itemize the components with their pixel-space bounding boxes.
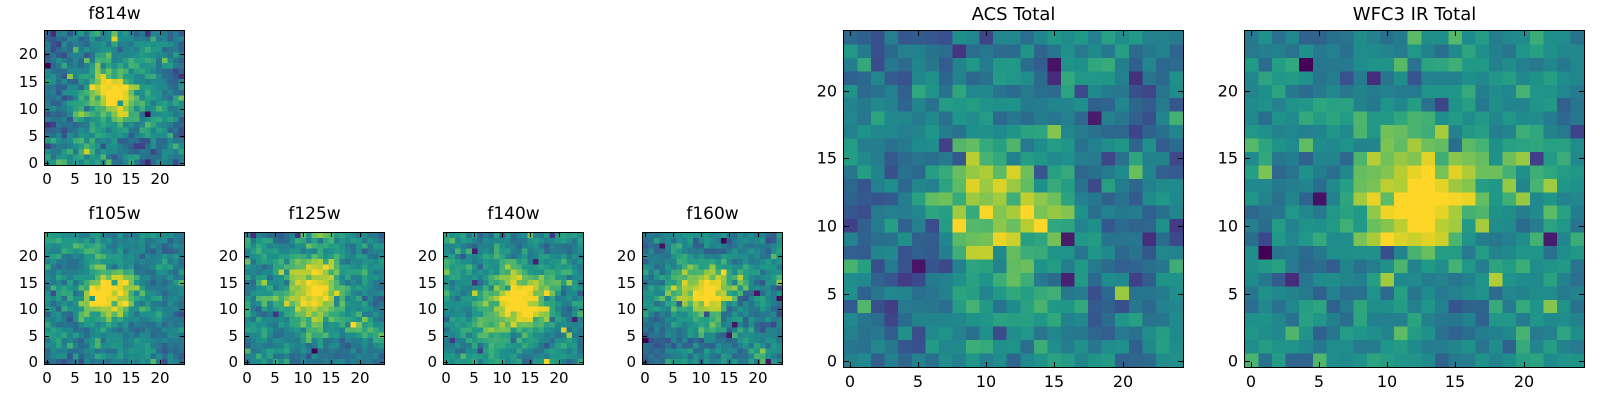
xtick-top-f140w-3	[530, 232, 531, 237]
yticklabel-wfc3_ir_total-2: 10	[1200, 217, 1238, 236]
xticklabel-f125w-2: 10	[293, 369, 312, 387]
panel-title-f160w: f160w	[642, 204, 783, 224]
yticklabel-f814w-3: 15	[0, 73, 38, 91]
heatmap-f125w	[245, 233, 384, 364]
ytick-right-f160w-0	[778, 362, 783, 363]
yticklabel-f105w-2: 10	[0, 300, 38, 318]
xtick-top-f105w-1	[75, 232, 76, 237]
xticklabel-f125w-1: 5	[270, 369, 280, 387]
xtick-f814w-0	[47, 161, 48, 166]
xtick-top-acs_total-3	[1054, 30, 1055, 36]
xtick-f140w-0	[446, 360, 447, 365]
ytick-right-f140w-0	[579, 362, 584, 363]
yticklabel-f140w-2: 10	[399, 300, 437, 318]
axes-f105w	[44, 232, 185, 365]
xtick-top-wfc3_ir_total-0	[1251, 30, 1252, 36]
ytick-right-f140w-4	[579, 256, 584, 257]
yticklabel-f814w-4: 20	[0, 45, 38, 63]
xticklabel-f140w-3: 15	[520, 369, 539, 387]
xticklabel-f160w-0: 0	[640, 369, 650, 387]
xtick-top-f160w-1	[673, 232, 674, 237]
xtick-f140w-2	[502, 360, 503, 365]
xtick-f160w-0	[645, 360, 646, 365]
xtick-f160w-2	[701, 360, 702, 365]
ytick-right-f105w-2	[180, 309, 185, 310]
xtick-f105w-0	[47, 360, 48, 365]
ytick-right-f125w-3	[380, 283, 385, 284]
xticklabel-wfc3_ir_total-3: 15	[1445, 372, 1465, 391]
xtick-top-f140w-4	[559, 232, 560, 237]
xticklabel-f105w-2: 10	[93, 369, 112, 387]
ytick-acs_total-0	[843, 361, 849, 362]
xticklabel-f125w-4: 20	[350, 369, 369, 387]
panel-title-f125w: f125w	[244, 204, 385, 224]
ytick-f105w-0	[44, 362, 49, 363]
xticklabel-f814w-1: 5	[70, 170, 80, 188]
yticklabel-wfc3_ir_total-0: 0	[1200, 352, 1238, 371]
xtick-top-f125w-4	[360, 232, 361, 237]
ytick-right-f814w-4	[180, 54, 185, 55]
heatmap-wfc3_ir_total	[1245, 31, 1584, 367]
xtick-top-acs_total-2	[986, 30, 987, 36]
ytick-f125w-4	[244, 256, 249, 257]
ytick-f140w-1	[443, 336, 448, 337]
ytick-f140w-3	[443, 283, 448, 284]
axes-f125w	[244, 232, 385, 365]
yticklabel-f125w-3: 15	[200, 274, 238, 292]
yticklabel-f105w-0: 0	[0, 353, 38, 371]
xtick-top-f105w-4	[160, 232, 161, 237]
xtick-top-wfc3_ir_total-3	[1455, 30, 1456, 36]
xtick-f814w-4	[160, 161, 161, 166]
xtick-top-f105w-2	[103, 232, 104, 237]
ytick-f814w-0	[44, 163, 49, 164]
ytick-right-f105w-3	[180, 283, 185, 284]
ytick-f105w-4	[44, 256, 49, 257]
xtick-top-f125w-2	[303, 232, 304, 237]
yticklabel-f140w-0: 0	[399, 353, 437, 371]
ytick-right-wfc3_ir_total-3	[1579, 158, 1585, 159]
xtick-top-wfc3_ir_total-2	[1387, 30, 1388, 36]
axes-f160w	[642, 232, 783, 365]
xtick-f105w-1	[75, 360, 76, 365]
ytick-right-f140w-2	[579, 309, 584, 310]
xtick-f140w-4	[559, 360, 560, 365]
ytick-f160w-1	[642, 336, 647, 337]
xtick-f160w-4	[758, 360, 759, 365]
xtick-acs_total-3	[1054, 362, 1055, 368]
ytick-right-f140w-1	[579, 336, 584, 337]
yticklabel-acs_total-3: 15	[799, 149, 837, 168]
ytick-acs_total-3	[843, 158, 849, 159]
yticklabel-acs_total-1: 5	[799, 285, 837, 304]
ytick-f160w-4	[642, 256, 647, 257]
xtick-f814w-2	[103, 161, 104, 166]
xticklabel-wfc3_ir_total-0: 0	[1246, 372, 1256, 391]
xtick-acs_total-0	[850, 362, 851, 368]
yticklabel-f160w-3: 15	[598, 274, 636, 292]
xtick-top-f125w-3	[331, 232, 332, 237]
ytick-f814w-2	[44, 109, 49, 110]
ytick-f105w-1	[44, 336, 49, 337]
yticklabel-f814w-2: 10	[0, 100, 38, 118]
xticklabel-f140w-4: 20	[549, 369, 568, 387]
ytick-wfc3_ir_total-1	[1244, 294, 1250, 295]
yticklabel-f814w-0: 0	[0, 154, 38, 172]
yticklabel-f140w-3: 15	[399, 274, 437, 292]
xticklabel-f160w-4: 20	[748, 369, 767, 387]
xtick-top-f140w-1	[474, 232, 475, 237]
xticklabel-acs_total-4: 20	[1113, 372, 1133, 391]
xticklabel-wfc3_ir_total-1: 5	[1314, 372, 1324, 391]
xtick-f125w-4	[360, 360, 361, 365]
xticklabel-acs_total-3: 15	[1044, 372, 1064, 391]
xticklabel-acs_total-0: 0	[845, 372, 855, 391]
xtick-top-f140w-0	[446, 232, 447, 237]
ytick-right-f814w-0	[180, 163, 185, 164]
ytick-right-wfc3_ir_total-4	[1579, 91, 1585, 92]
xtick-f125w-2	[303, 360, 304, 365]
xtick-top-acs_total-4	[1123, 30, 1124, 36]
ytick-f160w-0	[642, 362, 647, 363]
xticklabel-f160w-3: 15	[719, 369, 738, 387]
ytick-acs_total-1	[843, 294, 849, 295]
xticklabel-f160w-2: 10	[691, 369, 710, 387]
xtick-f105w-4	[160, 360, 161, 365]
yticklabel-f125w-0: 0	[200, 353, 238, 371]
yticklabel-acs_total-2: 10	[799, 217, 837, 236]
xtick-top-f140w-2	[502, 232, 503, 237]
panel-acs_total: ACS Total0510152005101520	[0, 0, 1600, 400]
xtick-acs_total-4	[1123, 362, 1124, 368]
xticklabel-f140w-0: 0	[441, 369, 451, 387]
xticklabel-f160w-1: 5	[668, 369, 678, 387]
xtick-f160w-1	[673, 360, 674, 365]
panel-title-f105w: f105w	[44, 204, 185, 224]
yticklabel-f160w-1: 5	[598, 327, 636, 345]
panel-f814w: f814w0510152005101520	[0, 0, 1600, 400]
xtick-wfc3_ir_total-3	[1455, 362, 1456, 368]
axes-wfc3_ir_total	[1244, 30, 1585, 368]
ytick-right-wfc3_ir_total-2	[1579, 226, 1585, 227]
yticklabel-f125w-4: 20	[200, 247, 238, 265]
xtick-acs_total-2	[986, 362, 987, 368]
axes-f140w	[443, 232, 584, 365]
yticklabel-f160w-0: 0	[598, 353, 636, 371]
ytick-right-f814w-3	[180, 82, 185, 83]
ytick-f140w-2	[443, 309, 448, 310]
ytick-f125w-0	[244, 362, 249, 363]
heatmap-f140w	[444, 233, 583, 364]
xticklabel-f814w-3: 15	[121, 170, 140, 188]
ytick-f814w-3	[44, 82, 49, 83]
xtick-top-f160w-4	[758, 232, 759, 237]
yticklabel-f125w-1: 5	[200, 327, 238, 345]
xtick-f105w-2	[103, 360, 104, 365]
yticklabel-wfc3_ir_total-4: 20	[1200, 82, 1238, 101]
panel-title-wfc3_ir_total: WFC3 IR Total	[1244, 4, 1585, 25]
ytick-f105w-2	[44, 309, 49, 310]
yticklabel-acs_total-0: 0	[799, 352, 837, 371]
panel-wfc3_ir_total: WFC3 IR Total0510152005101520	[0, 0, 1600, 400]
yticklabel-f105w-1: 5	[0, 327, 38, 345]
ytick-wfc3_ir_total-3	[1244, 158, 1250, 159]
ytick-right-f125w-0	[380, 362, 385, 363]
yticklabel-f160w-4: 20	[598, 247, 636, 265]
panel-f105w: f105w0510152005101520	[0, 0, 1600, 400]
xtick-top-f814w-3	[131, 30, 132, 35]
ytick-f814w-1	[44, 136, 49, 137]
ytick-right-f160w-4	[778, 256, 783, 257]
ytick-wfc3_ir_total-0	[1244, 361, 1250, 362]
xtick-top-wfc3_ir_total-1	[1319, 30, 1320, 36]
xtick-wfc3_ir_total-4	[1524, 362, 1525, 368]
ytick-right-f160w-2	[778, 309, 783, 310]
xtick-top-acs_total-1	[918, 30, 919, 36]
axes-f814w	[44, 30, 185, 166]
xticklabel-f814w-0: 0	[42, 170, 52, 188]
xtick-f814w-3	[131, 161, 132, 166]
xtick-top-f160w-2	[701, 232, 702, 237]
xticklabel-f105w-4: 20	[150, 369, 169, 387]
xtick-wfc3_ir_total-2	[1387, 362, 1388, 368]
panel-title-acs_total: ACS Total	[843, 4, 1184, 25]
ytick-wfc3_ir_total-4	[1244, 91, 1250, 92]
xtick-f814w-1	[75, 161, 76, 166]
xticklabel-f140w-1: 5	[469, 369, 479, 387]
ytick-right-acs_total-3	[1178, 158, 1184, 159]
xtick-top-f814w-0	[47, 30, 48, 35]
ytick-right-f105w-1	[180, 336, 185, 337]
xtick-top-f160w-3	[729, 232, 730, 237]
xticklabel-f125w-3: 15	[321, 369, 340, 387]
ytick-wfc3_ir_total-2	[1244, 226, 1250, 227]
ytick-f125w-1	[244, 336, 249, 337]
panel-f140w: f140w0510152005101520	[0, 0, 1600, 400]
xticklabel-f105w-3: 15	[121, 369, 140, 387]
xtick-top-f105w-3	[131, 232, 132, 237]
panel-title-f814w: f814w	[44, 4, 185, 24]
panel-f125w: f125w0510152005101520	[0, 0, 1600, 400]
ytick-f125w-2	[244, 309, 249, 310]
yticklabel-f125w-2: 10	[200, 300, 238, 318]
xtick-top-f105w-0	[47, 232, 48, 237]
ytick-f105w-3	[44, 283, 49, 284]
xticklabel-wfc3_ir_total-2: 10	[1377, 372, 1397, 391]
xtick-top-f814w-2	[103, 30, 104, 35]
ytick-f160w-2	[642, 309, 647, 310]
xtick-f105w-3	[131, 360, 132, 365]
ytick-right-acs_total-2	[1178, 226, 1184, 227]
xtick-wfc3_ir_total-0	[1251, 362, 1252, 368]
ytick-right-f125w-2	[380, 309, 385, 310]
ytick-right-f160w-1	[778, 336, 783, 337]
xtick-f125w-1	[275, 360, 276, 365]
xticklabel-acs_total-1: 5	[913, 372, 923, 391]
yticklabel-f160w-2: 10	[598, 300, 636, 318]
yticklabel-f140w-4: 20	[399, 247, 437, 265]
ytick-acs_total-4	[843, 91, 849, 92]
xticklabel-f814w-4: 20	[150, 170, 169, 188]
xtick-f125w-0	[247, 360, 248, 365]
xtick-top-f125w-1	[275, 232, 276, 237]
xticklabel-wfc3_ir_total-4: 20	[1514, 372, 1534, 391]
yticklabel-wfc3_ir_total-1: 5	[1200, 285, 1238, 304]
ytick-f160w-3	[642, 283, 647, 284]
xtick-top-f125w-0	[247, 232, 248, 237]
xticklabel-f814w-2: 10	[93, 170, 112, 188]
yticklabel-f140w-1: 5	[399, 327, 437, 345]
xtick-top-f160w-0	[645, 232, 646, 237]
ytick-right-f140w-3	[579, 283, 584, 284]
panel-title-f140w: f140w	[443, 204, 584, 224]
ytick-right-f814w-1	[180, 136, 185, 137]
ytick-right-f160w-3	[778, 283, 783, 284]
ytick-right-f105w-4	[180, 256, 185, 257]
ytick-right-f125w-4	[380, 256, 385, 257]
xtick-top-wfc3_ir_total-4	[1524, 30, 1525, 36]
ytick-right-acs_total-1	[1178, 294, 1184, 295]
heatmap-f105w	[45, 233, 184, 364]
xticklabel-f140w-2: 10	[492, 369, 511, 387]
xtick-top-f814w-4	[160, 30, 161, 35]
xtick-f140w-1	[474, 360, 475, 365]
ytick-right-wfc3_ir_total-0	[1579, 361, 1585, 362]
ytick-right-f125w-1	[380, 336, 385, 337]
panel-f160w: f160w0510152005101520	[0, 0, 1600, 400]
xtick-top-acs_total-0	[850, 30, 851, 36]
xticklabel-acs_total-2: 10	[976, 372, 996, 391]
xtick-f140w-3	[530, 360, 531, 365]
ytick-f140w-4	[443, 256, 448, 257]
xtick-top-f814w-1	[75, 30, 76, 35]
heatmap-f160w	[643, 233, 782, 364]
ytick-right-acs_total-0	[1178, 361, 1184, 362]
xtick-wfc3_ir_total-1	[1319, 362, 1320, 368]
xticklabel-f105w-1: 5	[70, 369, 80, 387]
ytick-right-wfc3_ir_total-1	[1579, 294, 1585, 295]
xtick-f160w-3	[729, 360, 730, 365]
ytick-right-acs_total-4	[1178, 91, 1184, 92]
yticklabel-acs_total-4: 20	[799, 82, 837, 101]
ytick-right-f814w-2	[180, 109, 185, 110]
xtick-acs_total-1	[918, 362, 919, 368]
ytick-right-f105w-0	[180, 362, 185, 363]
ytick-f140w-0	[443, 362, 448, 363]
ytick-f125w-3	[244, 283, 249, 284]
ytick-f814w-4	[44, 54, 49, 55]
xticklabel-f105w-0: 0	[42, 369, 52, 387]
yticklabel-f105w-4: 20	[0, 247, 38, 265]
heatmap-f814w	[45, 31, 184, 165]
axes-acs_total	[843, 30, 1184, 368]
yticklabel-f105w-3: 15	[0, 274, 38, 292]
yticklabel-wfc3_ir_total-3: 15	[1200, 149, 1238, 168]
xticklabel-f125w-0: 0	[242, 369, 252, 387]
ytick-acs_total-2	[843, 226, 849, 227]
heatmap-acs_total	[844, 31, 1183, 367]
xtick-f125w-3	[331, 360, 332, 365]
yticklabel-f814w-1: 5	[0, 127, 38, 145]
